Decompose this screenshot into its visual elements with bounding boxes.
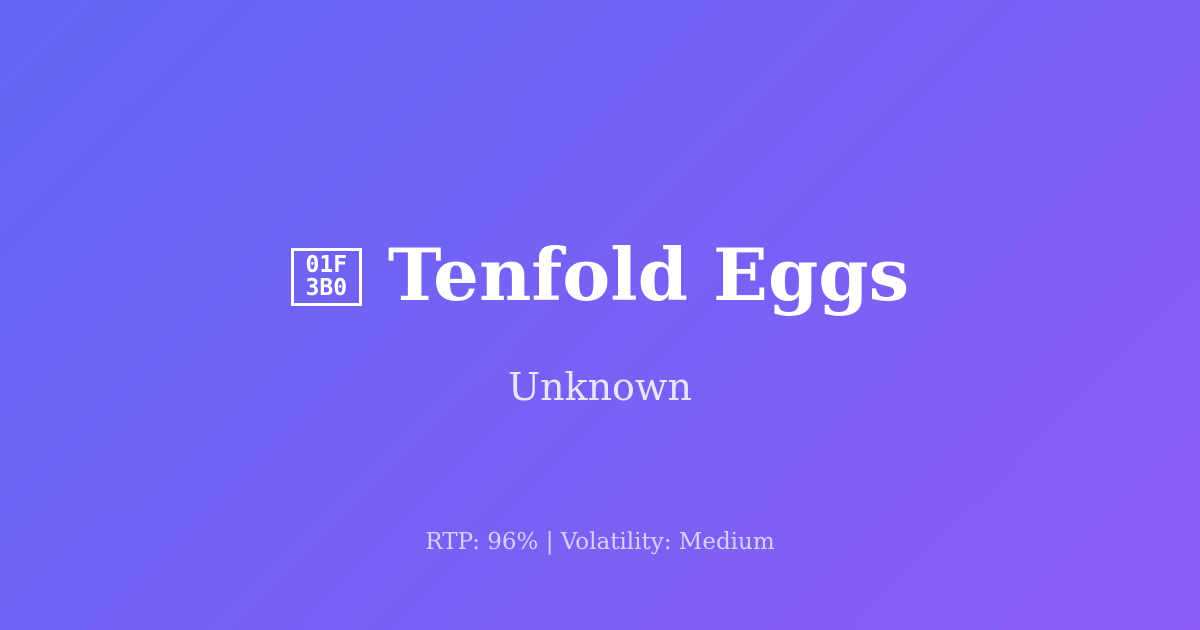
game-title: Tenfold Eggs — [388, 232, 909, 318]
slot-machine-icon-codepoint-low: 3B0 — [306, 277, 348, 300]
title-row: 01F 3B0 Tenfold Eggs — [0, 232, 1200, 318]
og-preview-card: 01F 3B0 Tenfold Eggs Unknown RTP: 96% | … — [0, 0, 1200, 630]
game-provider: Unknown — [0, 362, 1200, 412]
slot-machine-icon-codepoint-high: 01F — [306, 254, 348, 277]
slot-machine-icon: 01F 3B0 — [291, 248, 362, 306]
game-meta-line: RTP: 96% | Volatility: Medium — [0, 527, 1200, 557]
